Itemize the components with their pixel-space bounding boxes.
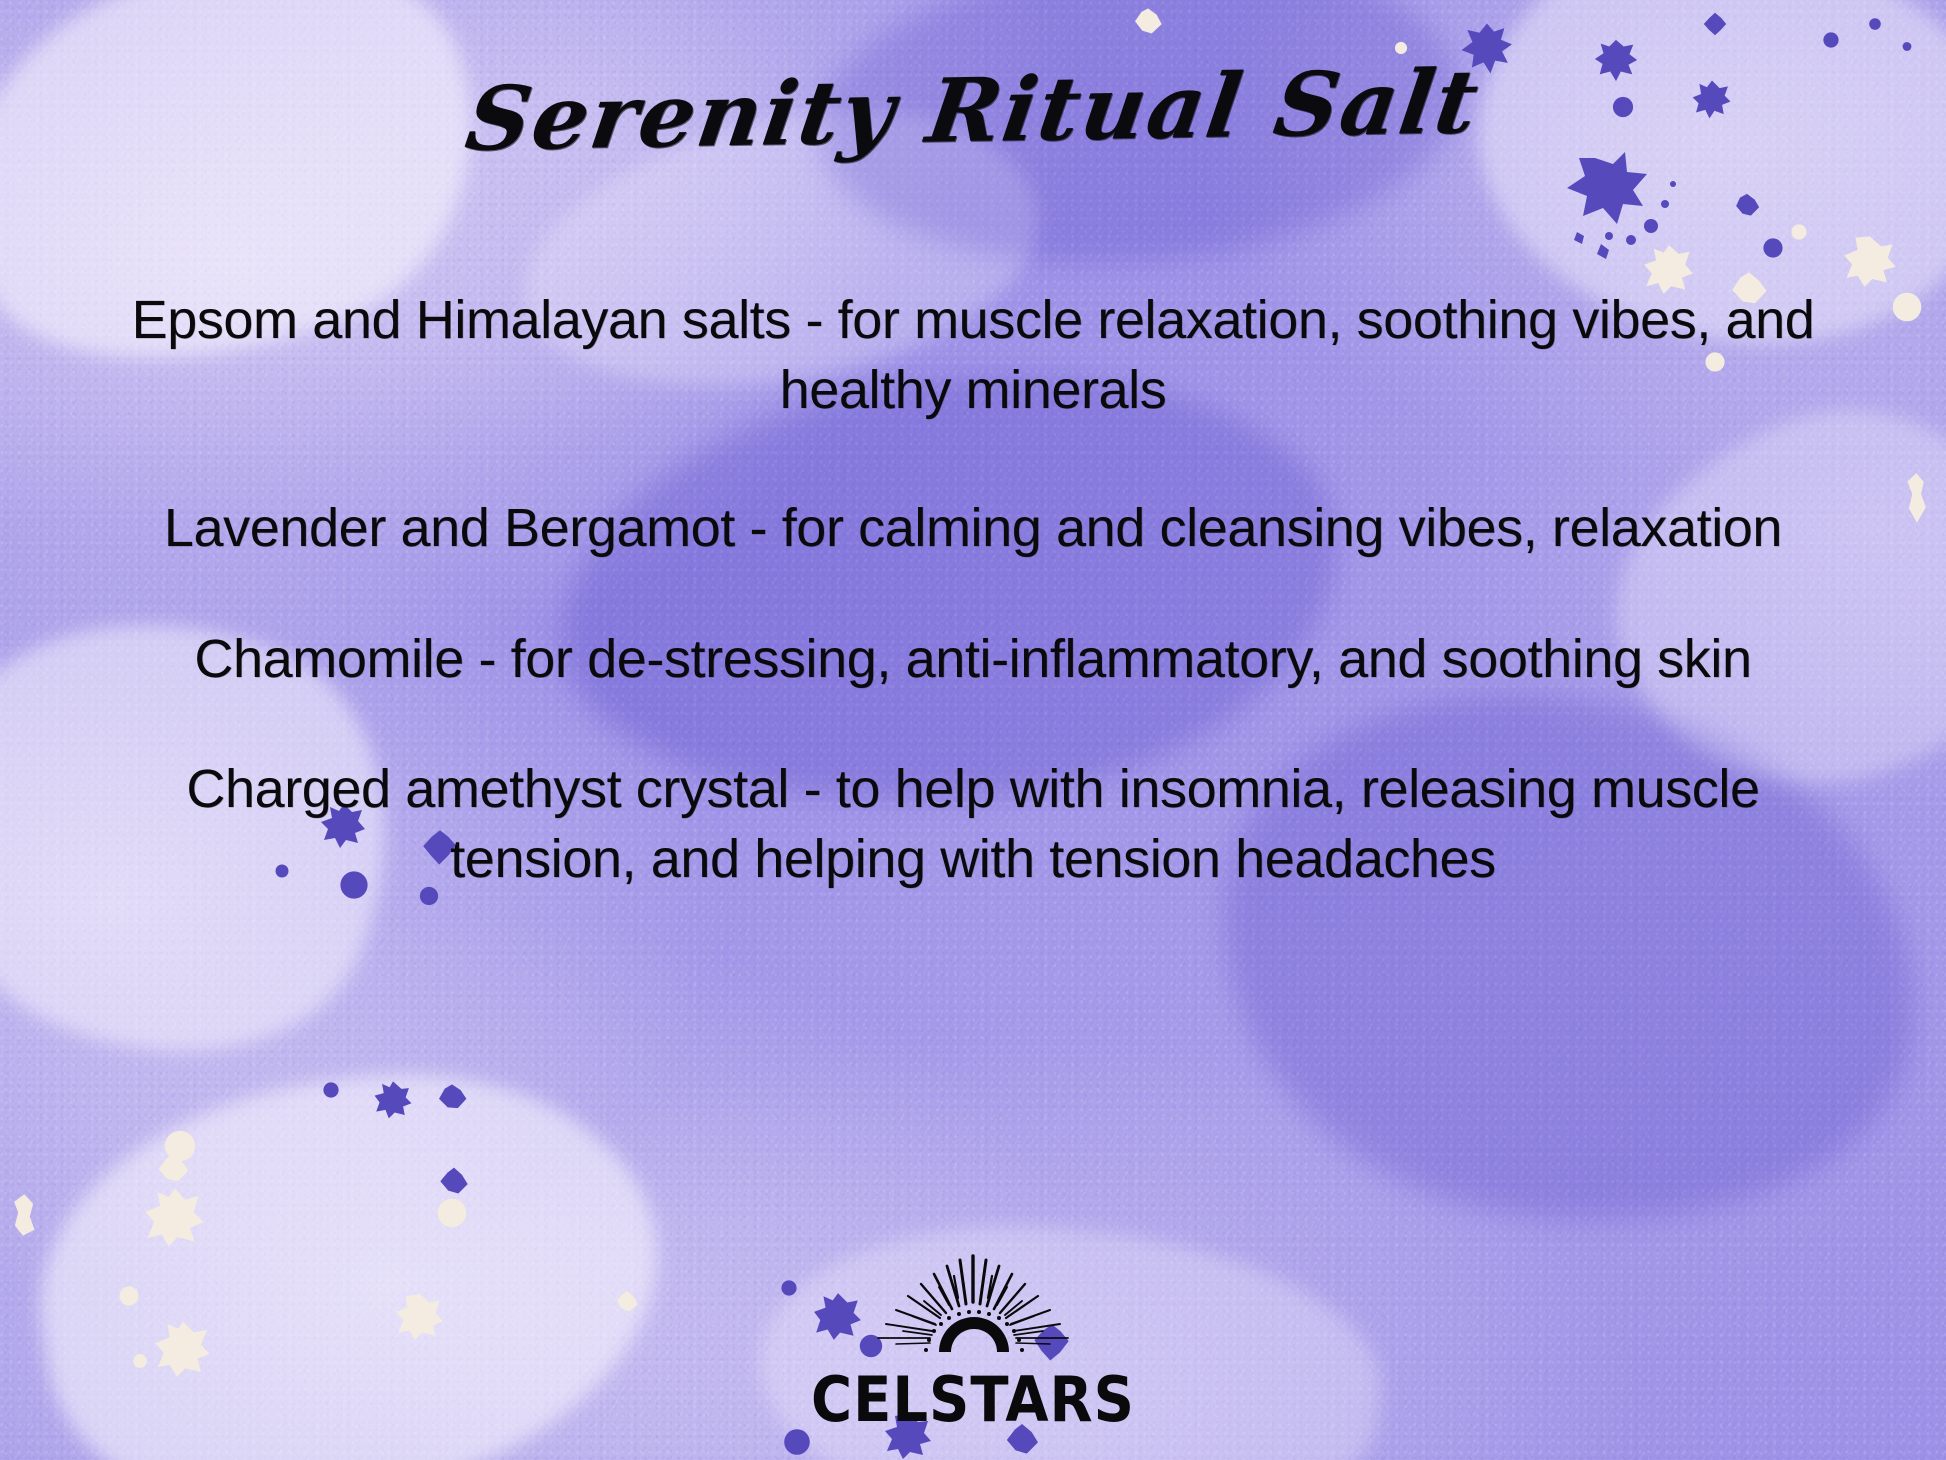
poster-content: Serenity Ritual Salt Epsom and Himalayan…: [0, 0, 1946, 1460]
brand-logo: CELSTARS: [808, 1254, 1138, 1454]
ingredient-paragraph-lavender: Lavender and Bergamot - for calming and …: [70, 493, 1876, 563]
brand-wordmark: CELSTARS: [808, 1364, 1138, 1437]
ingredients-list: Epsom and Himalayan salts - for muscle r…: [70, 285, 1876, 894]
ingredient-paragraph-salts: Epsom and Himalayan salts - for muscle r…: [70, 285, 1876, 425]
sunburst-moon-icon: [808, 1254, 1138, 1372]
poster-canvas: Serenity Ritual Salt Epsom and Himalayan…: [0, 0, 1946, 1460]
page-title: Serenity Ritual Salt: [0, 41, 1946, 179]
ingredient-paragraph-chamomile: Chamomile - for de-stressing, anti-infla…: [70, 624, 1876, 694]
ingredient-paragraph-amethyst: Charged amethyst crystal - to help with …: [70, 754, 1876, 894]
